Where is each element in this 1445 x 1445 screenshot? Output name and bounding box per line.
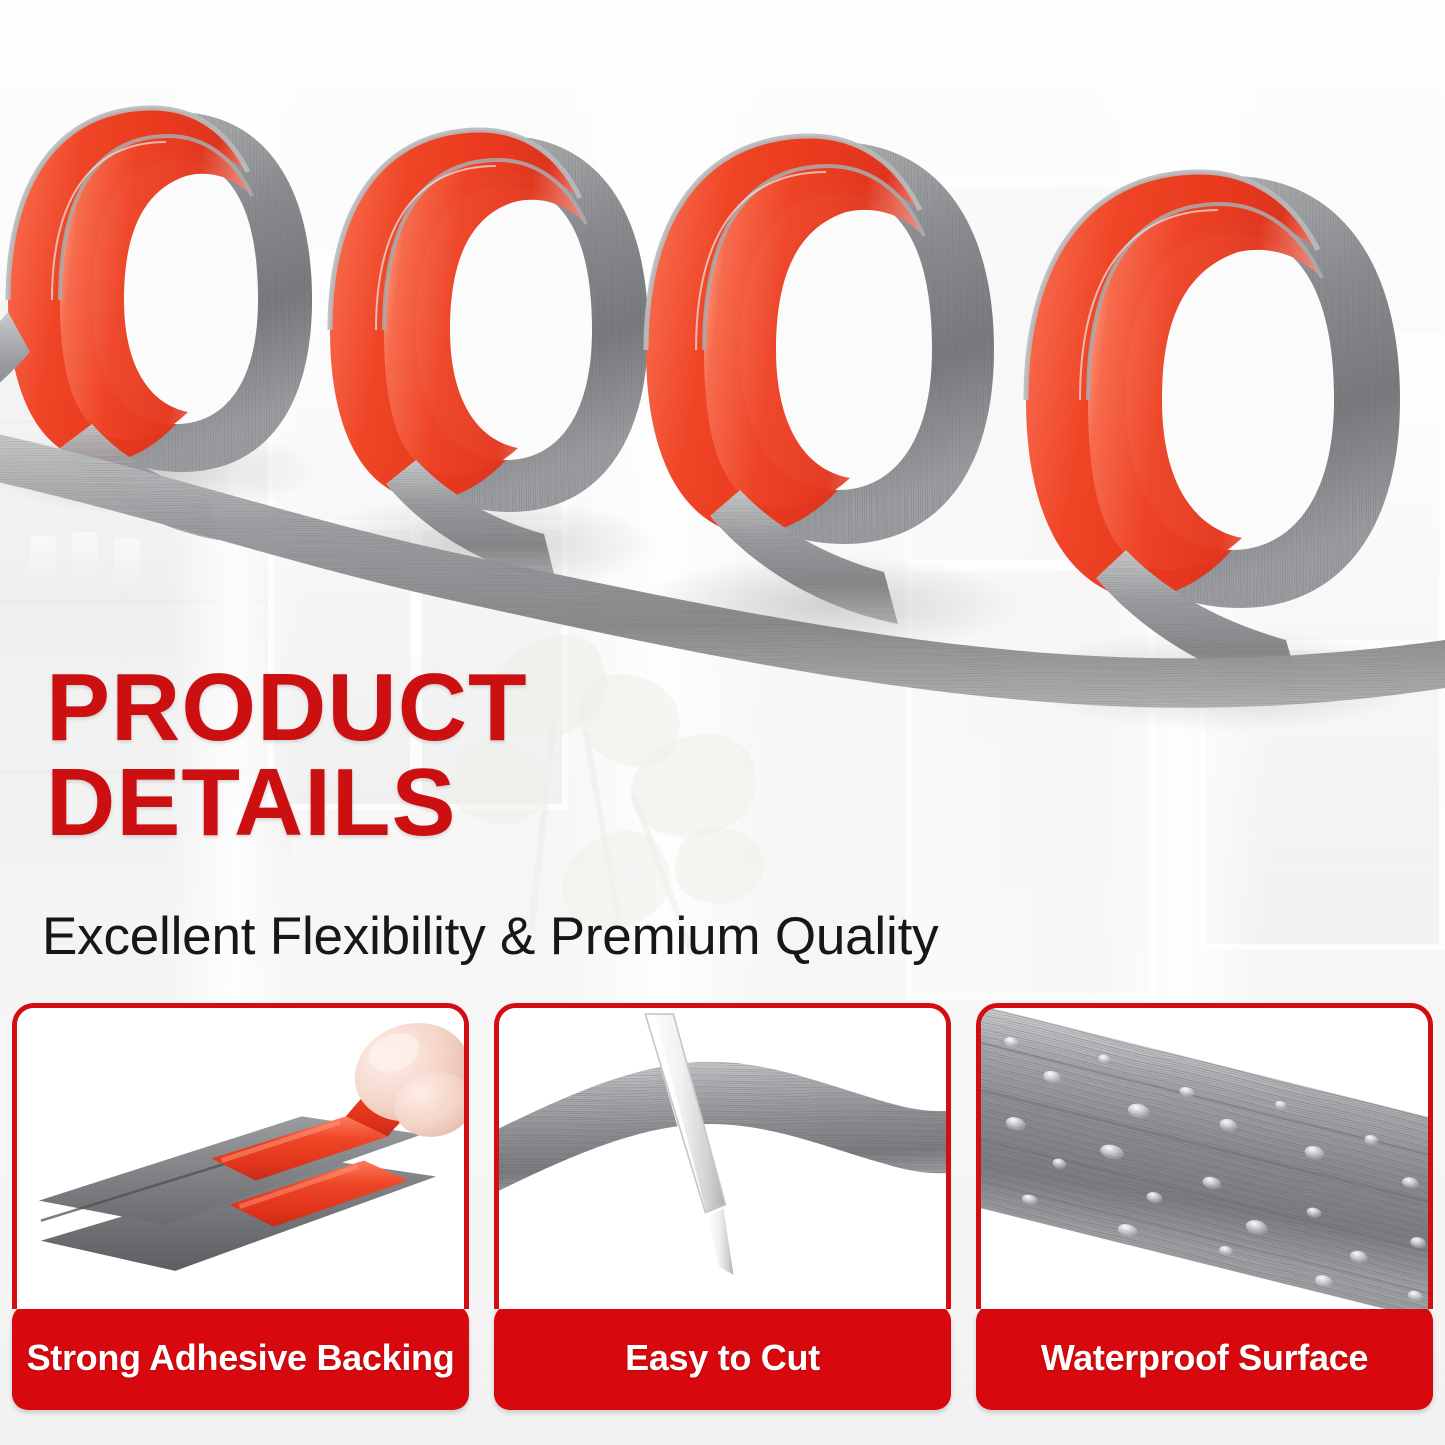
feature-panels: Strong Adhesive Backing [0,1003,1445,1415]
subheadline: Excellent Flexibility & Premium Quality [42,906,938,967]
headline-block: PRODUCT DETAILS [46,660,886,850]
panel-frame [976,1003,1433,1309]
feature-panel-waterproof: Waterproof Surface [976,1003,1433,1410]
panel-caption-cut: Easy to Cut [494,1305,951,1410]
panel-photo-waterproof [981,1008,1428,1309]
coil-2 [300,130,660,593]
panel-frame [12,1003,469,1309]
panel-photo-cut [499,1008,946,1309]
panel-caption-adhesive: Strong Adhesive Backing [12,1305,469,1410]
panel-photo-adhesive [17,1008,464,1309]
panel-frame [494,1003,951,1309]
feature-panel-adhesive: Strong Adhesive Backing [12,1003,469,1410]
headline-line-2: DETAILS [46,755,886,850]
coil-3 [635,136,1025,655]
coil-4 [1020,172,1420,732]
feature-panel-cut: Easy to Cut [494,1003,951,1410]
product-detail-image: PRODUCT DETAILS Excellent Flexibility & … [0,0,1445,1445]
headline-line-1: PRODUCT [46,660,886,755]
panel-caption-waterproof: Waterproof Surface [976,1305,1433,1410]
